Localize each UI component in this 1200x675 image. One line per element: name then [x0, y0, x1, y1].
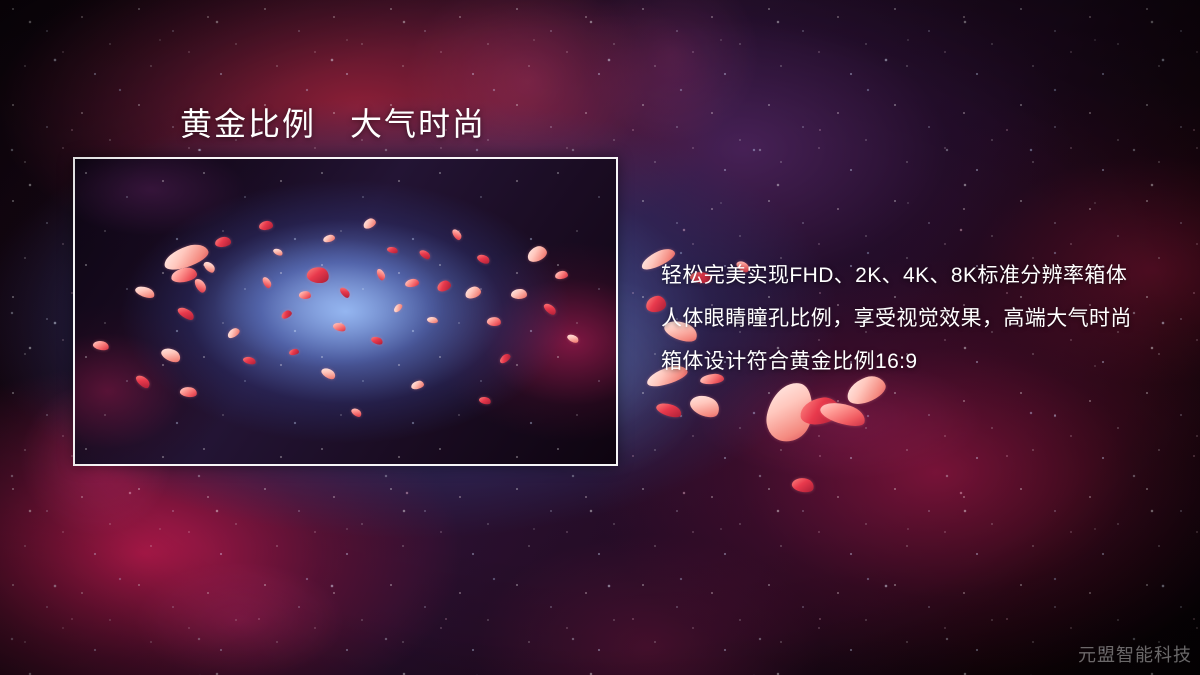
framed-image-panel [73, 157, 618, 466]
page-title: 黄金比例 大气时尚 [180, 99, 486, 145]
watermark: 元盟智能科技 [1078, 641, 1192, 667]
petal-icon [511, 289, 527, 300]
framed-panel-starfield-icon [75, 159, 616, 464]
body-line-2: 人体眼睛瞳孔比例，享受视觉效果，高端大气时尚 [661, 297, 1181, 340]
petal-icon [687, 390, 723, 421]
body-line-3: 箱体设计符合黄金比例16:9 [661, 340, 1181, 383]
slide-canvas: 黄金比例 大气时尚 轻松完美实现FHD、2K、4K、8K标准分辨率箱体 人体眼睛… [0, 0, 1200, 675]
body-copy: 轻松完美实现FHD、2K、4K、8K标准分辨率箱体 人体眼睛瞳孔比例，享受视觉效… [661, 254, 1181, 383]
body-line-1: 轻松完美实现FHD、2K、4K、8K标准分辨率箱体 [661, 254, 1181, 297]
petal-icon [791, 476, 816, 495]
petal-icon [655, 400, 684, 420]
